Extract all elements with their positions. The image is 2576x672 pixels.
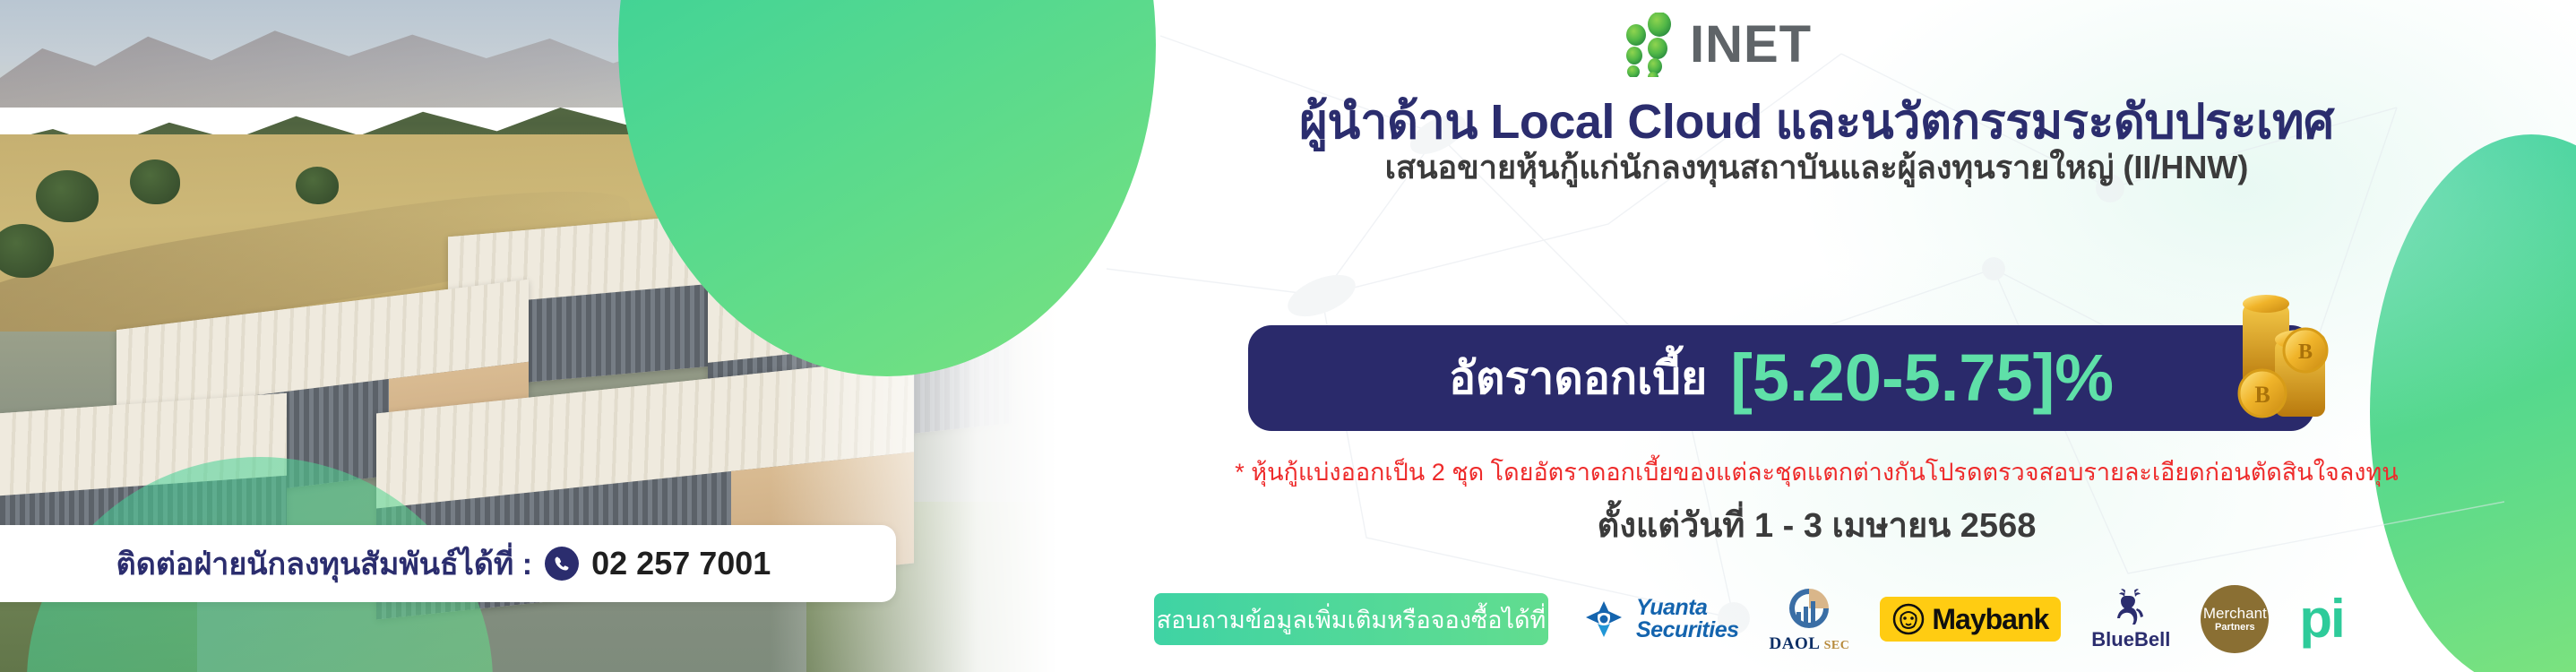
svg-text:B: B [2298,340,2313,364]
inet-logo-text: INET [1690,18,1812,72]
interest-rate-label: อัตราดอกเบี้ย [1449,343,1707,414]
daol-wordmark: DAOL SEC [1770,634,1850,654]
contact-phone-number[interactable]: 02 257 7001 [591,545,771,582]
offer-date-range: ตั้งแต่วันที่ 1 - 3 เมษายน 2568 [1057,497,2576,552]
partner-logo-pi[interactable]: pi [2299,583,2343,655]
gold-coins-icon: B B [2219,288,2345,440]
maybank-wordmark: Maybank [1932,603,2048,636]
inquire-subscribe-button[interactable]: สอบถามข้อมูลเพิ่มเติมหรือจองซื้อได้ที่ [1154,593,1548,645]
partner-logo-yuanta[interactable]: Yuanta Securities [1582,583,1739,655]
phone-icon [545,547,579,581]
partner-logo-bluebell[interactable]: BlueBell [2091,583,2170,655]
content-area: INET ผู้นำด้าน Local Cloud และนวัตกรรมระ… [1057,0,2576,672]
svg-text:B: B [2254,382,2270,408]
inet-dots-logo-icon [1613,13,1695,77]
footnote-disclaimer: * หุ้นกู้แบ่งออกเป็น 2 ชุด โดยอัตราดอกเบ… [1057,452,2576,491]
interest-rate-badge: อัตราดอกเบี้ย [5.20-5.75]% [1248,325,2314,431]
pi-wordmark-icon: pi [2299,594,2343,644]
daol-pie-icon [1784,585,1834,632]
photo-tree [296,167,339,204]
photo-tree [36,170,99,222]
partner-row: สอบถามข้อมูลเพิ่มเติมหรือจองซื้อได้ที่ Y [1057,581,2576,658]
merchant-wordmark-line2: Partners [2215,622,2255,633]
partner-logos: Yuanta Securities DAOL SEC [1582,583,2344,655]
yuanta-wordmark: Yuanta Securities [1636,597,1739,642]
contact-label: ติดต่อฝ่ายนักลงทุนสัมพันธ์ได้ที่ : [116,539,532,588]
partner-logo-maybank[interactable]: Maybank [1880,597,2061,642]
bluebell-wordmark: BlueBell [2091,628,2170,651]
maybank-tiger-icon [1892,603,1925,635]
interest-rate-value: [5.20-5.75]% [1730,345,2114,411]
merchant-circle-icon: Merchant Partners [2201,585,2269,653]
photo-tree [130,159,180,204]
inet-bond-promo-banner: INET ผู้นำด้าน Local Cloud และนวัตกรรมระ… [0,0,2576,672]
yuanta-star-icon [1582,598,1625,641]
photo-tree [0,224,54,278]
partner-logo-merchant-partners[interactable]: Merchant Partners [2201,583,2269,655]
inet-logo: INET [1613,13,1917,77]
investor-relations-contact: ติดต่อฝ่ายนักลงทุนสัมพันธ์ได้ที่ : 02 25… [0,525,896,602]
merchant-wordmark-line1: Merchant [2203,606,2267,622]
partner-logo-daol[interactable]: DAOL SEC [1770,583,1850,655]
subheadline: เสนอขายหุ้นกู้แก่นักลงทุนสถาบันและผู้ลงท… [1057,142,2576,193]
bluebell-deer-icon [2110,587,2151,626]
